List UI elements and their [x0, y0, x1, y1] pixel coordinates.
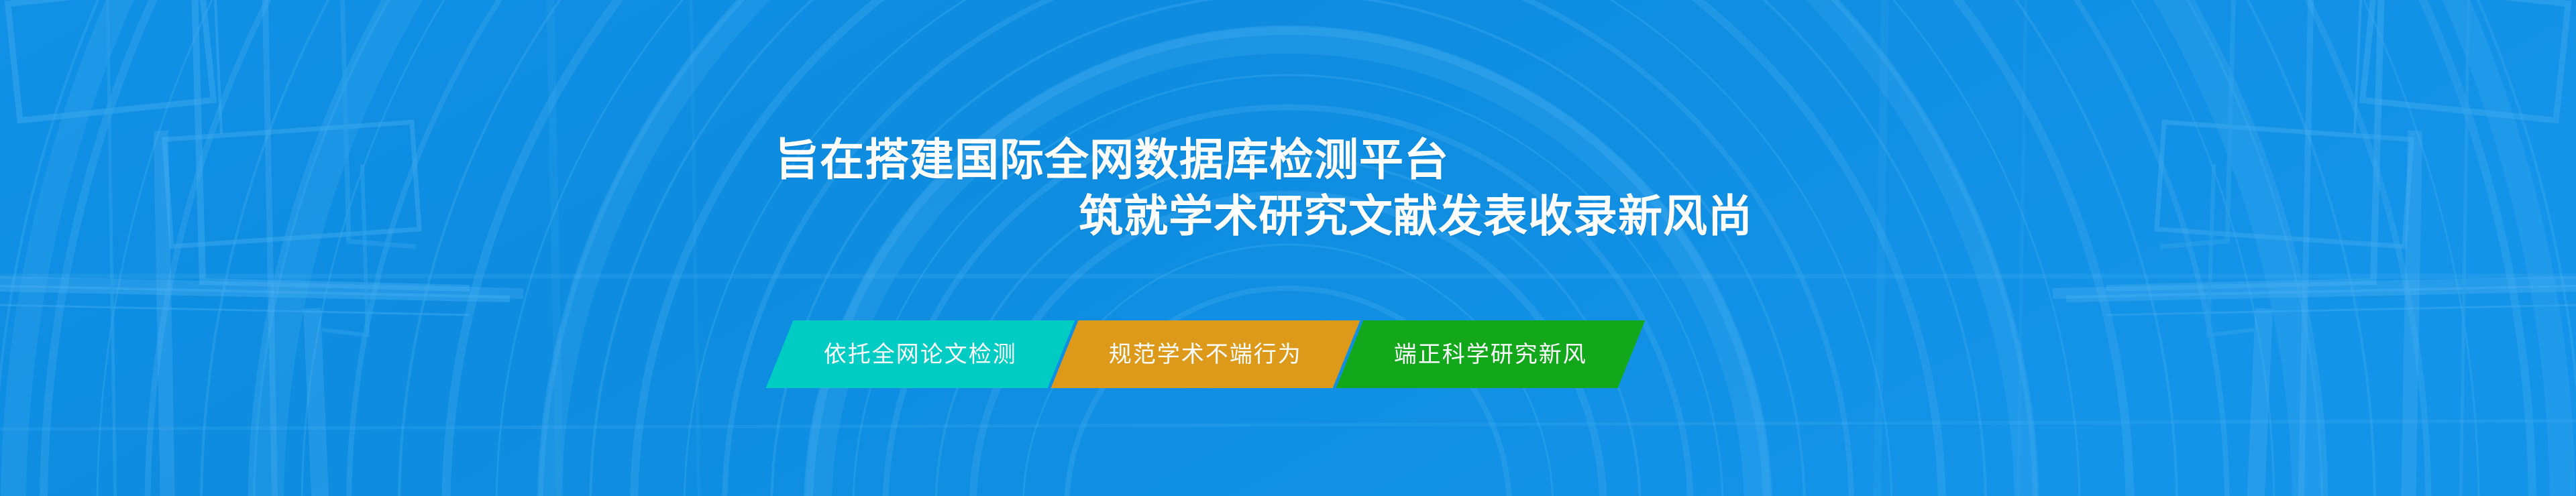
- feature-tag-label: 依托全网论文检测: [824, 343, 1017, 366]
- feature-tag-label: 规范学术不端行为: [1109, 343, 1302, 366]
- feature-tag-label: 端正科学研究新风: [1394, 343, 1587, 366]
- background-pattern: [0, 0, 2576, 496]
- feature-tag-plagiarism-detection[interactable]: 依托全网论文检测: [766, 320, 1075, 388]
- promo-banner: 旨在搭建国际全网数据库检测平台 筑就学术研究文献发表收录新风尚 依托全网论文检测…: [0, 0, 2576, 496]
- feature-tag-bar: 依托全网论文检测 规范学术不端行为 端正科学研究新风: [780, 320, 1631, 388]
- feature-tag-misconduct-regulation[interactable]: 规范学术不端行为: [1051, 320, 1360, 388]
- feature-tag-research-integrity[interactable]: 端正科学研究新风: [1336, 320, 1646, 388]
